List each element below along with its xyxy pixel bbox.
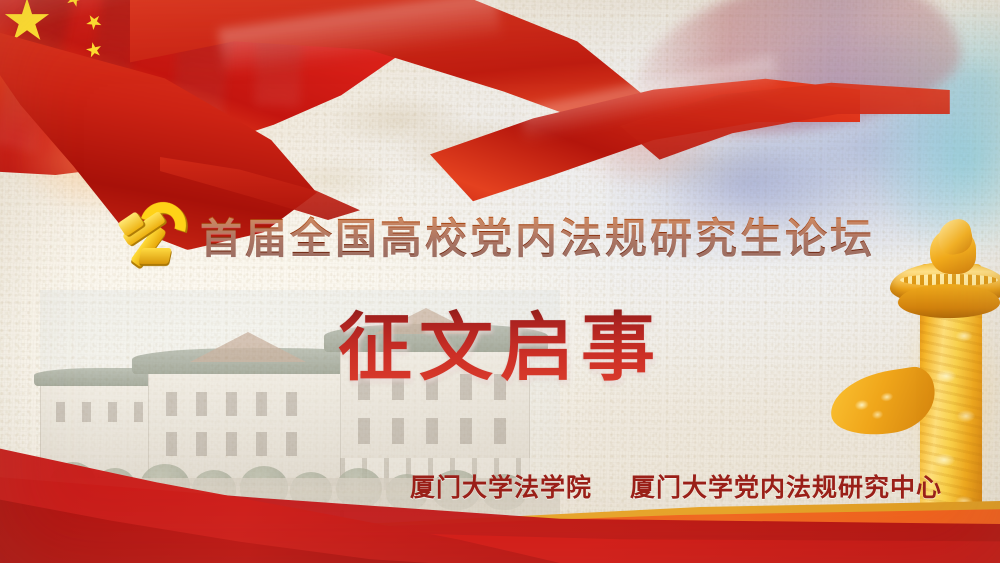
organizers-row: 厦门大学法学院 厦门大学党内法规研究中心 xyxy=(0,468,1000,504)
building-window xyxy=(226,432,237,456)
building-window xyxy=(358,418,370,444)
building-window xyxy=(166,392,177,416)
building-window xyxy=(196,432,207,456)
headline-call-for-papers: 征文启事 xyxy=(338,306,662,389)
building-window xyxy=(392,418,404,444)
building-window xyxy=(256,432,267,456)
cpc-hammer-sickle-emblem-icon xyxy=(118,200,194,270)
building-window xyxy=(460,418,472,444)
building-window xyxy=(256,392,267,416)
building-window xyxy=(426,418,438,444)
organizer-research-center: 厦门大学党内法规研究中心 xyxy=(630,468,942,504)
building-window xyxy=(108,402,117,422)
china-national-flag xyxy=(0,0,400,196)
building-window xyxy=(286,432,297,456)
title-row: 首届全国高校党内法规研究生论坛 xyxy=(200,206,900,264)
building-window xyxy=(494,418,506,444)
poster-canvas: 首届全国高校党内法规研究生论坛 征文启事 厦门大学法学院 厦门大学党内法规研究中… xyxy=(0,0,1000,563)
flag-fold xyxy=(254,0,304,107)
building-window xyxy=(56,402,65,422)
organizer-law-school: 厦门大学法学院 xyxy=(410,468,592,504)
forum-title: 首届全国高校党内法规研究生论坛 xyxy=(200,205,875,266)
building-window xyxy=(134,402,143,422)
building-window xyxy=(286,392,297,416)
headline-row: 征文启事 xyxy=(0,288,1000,395)
building-window xyxy=(226,392,237,416)
emblem-base xyxy=(138,248,171,264)
building-window xyxy=(82,402,91,422)
building-window xyxy=(196,392,207,416)
building-window xyxy=(166,432,177,456)
